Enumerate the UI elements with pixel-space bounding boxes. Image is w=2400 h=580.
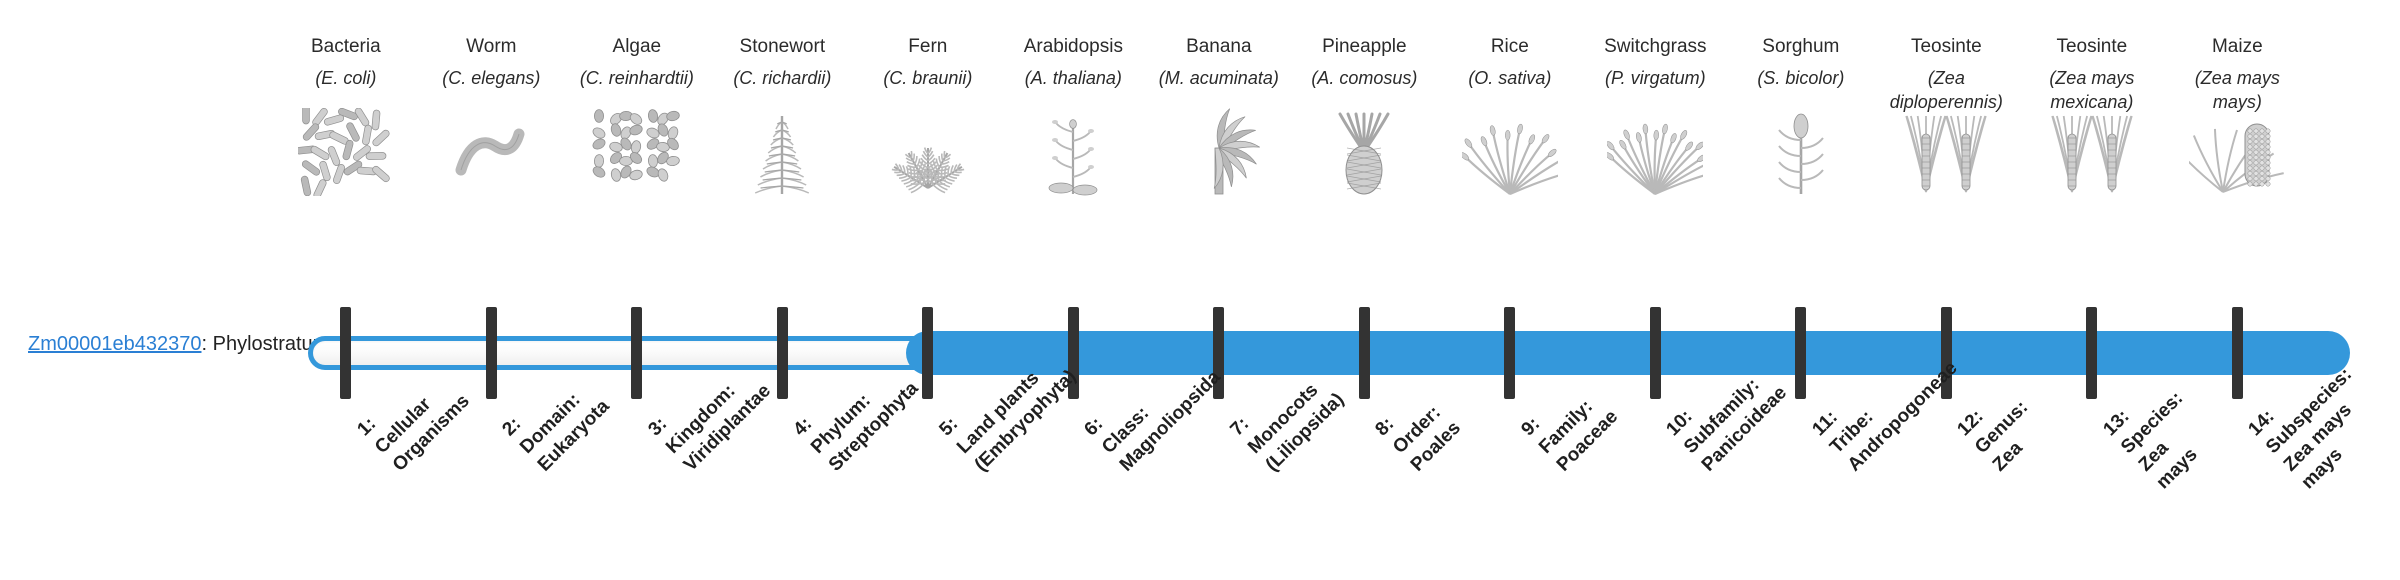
rank-label: 2:Domain:Eukaryota [497, 359, 615, 477]
species-scientific-name: (Zea mays mays) [2173, 66, 2301, 114]
rank-label: 13:Species:Zeamays [2098, 369, 2224, 495]
maize-icon [2189, 108, 2285, 196]
species-common-name: Arabidopsis [1009, 34, 1137, 60]
species-column: Arabidopsis(A. thaliana) [1009, 34, 1137, 114]
phylostratum-tick[interactable] [1650, 307, 1661, 399]
species-common-name: Stonewort [718, 34, 846, 60]
teosinte-diplo-icon [1898, 108, 1994, 196]
bacteria-icon [298, 108, 394, 196]
species-scientific-name: (M. acuminata) [1155, 66, 1283, 114]
species-column: Stonewort(C. richardii) [718, 34, 846, 114]
species-common-name: Teosinte [2028, 34, 2156, 60]
species-common-name: Sorghum [1737, 34, 1865, 60]
species-scientific-name: (P. virgatum) [1591, 66, 1719, 114]
arabidopsis-icon [1025, 108, 1121, 196]
rank-label: 1:CellularOrganisms [352, 354, 475, 477]
gene-id-link[interactable]: Zm00001eb432370 [28, 333, 201, 355]
species-column: Rice(O. sativa) [1446, 34, 1574, 114]
species-scientific-name: (S. bicolor) [1737, 66, 1865, 114]
phylostratum-tick[interactable] [2232, 307, 2243, 399]
pineapple-icon [1316, 108, 1412, 196]
switchgrass-icon [1607, 108, 1703, 196]
species-common-name: Algae [573, 34, 701, 60]
species-scientific-name: (Zea diploperennis) [1882, 66, 2010, 114]
sorghum-icon [1753, 108, 1849, 196]
species-column: Worm(C. elegans) [427, 34, 555, 114]
species-common-name: Switchgrass [1591, 34, 1719, 60]
species-scientific-name: (C. richardii) [718, 66, 846, 114]
species-common-name: Teosinte [1882, 34, 2010, 60]
species-column: Algae(C. reinhardtii) [573, 34, 701, 114]
species-common-name: Fern [864, 34, 992, 60]
species-scientific-name: (A. comosus) [1300, 66, 1428, 114]
phylostratum-diagram: Zm00001eb432370: Phylostratum 5 Bacteria… [0, 0, 2400, 580]
teosinte-mex-icon [2044, 108, 2140, 196]
phylostratum-tick[interactable] [922, 307, 933, 399]
species-column: Teosinte(Zea diploperennis) [1882, 34, 2010, 114]
species-common-name: Worm [427, 34, 555, 60]
species-column: Sorghum(S. bicolor) [1737, 34, 1865, 114]
species-common-name: Rice [1446, 34, 1574, 60]
stonewort-icon [734, 108, 830, 196]
phylostratum-tick[interactable] [340, 307, 351, 399]
rank-label: 8:Order:Poales [1370, 381, 1466, 477]
rank-label: 12:Genus:Zea [1952, 378, 2051, 477]
species-scientific-name: (C. elegans) [427, 66, 555, 114]
banana-icon [1171, 108, 1267, 196]
species-common-name: Bacteria [282, 34, 410, 60]
phylostratum-tick[interactable] [777, 307, 788, 399]
species-column: Pineapple(A. comosus) [1300, 34, 1428, 114]
species-scientific-name: (Zea mays mexicana) [2028, 66, 2156, 114]
species-common-name: Banana [1155, 34, 1283, 60]
phylostratum-tick[interactable] [1359, 307, 1370, 399]
gene-label-separator: : [201, 333, 212, 355]
rice-icon [1462, 108, 1558, 196]
species-column: Bacteria(E. coli) [282, 34, 410, 114]
species-column: Switchgrass(P. virgatum) [1591, 34, 1719, 114]
rank-label: 9:Family:Poaceae [1516, 369, 1624, 477]
species-scientific-name: (E. coli) [282, 66, 410, 114]
fern-icon [880, 108, 976, 196]
species-common-name: Pineapple [1300, 34, 1428, 60]
phylostratum-tick[interactable] [631, 307, 642, 399]
algae-icon [589, 108, 685, 196]
species-common-name: Maize [2173, 34, 2301, 60]
species-column: Teosinte(Zea mays mexicana) [2028, 34, 2156, 114]
species-scientific-name: (O. sativa) [1446, 66, 1574, 114]
phylostratum-tick[interactable] [486, 307, 497, 399]
species-column: Banana(M. acuminata) [1155, 34, 1283, 114]
worm-icon [443, 108, 539, 196]
phylostratum-tick[interactable] [1504, 307, 1515, 399]
phylostratum-tick[interactable] [1795, 307, 1806, 399]
species-column: Fern(C. braunii) [864, 34, 992, 114]
species-column: Maize(Zea mays mays) [2173, 34, 2301, 114]
phylostratum-fill [906, 331, 2350, 375]
phylostratum-tick[interactable] [2086, 307, 2097, 399]
species-scientific-name: (C. braunii) [864, 66, 992, 114]
species-scientific-name: (C. reinhardtii) [573, 66, 701, 114]
gene-phylostratum-label: Zm00001eb432370: Phylostratum 5 [28, 332, 292, 356]
species-scientific-name: (A. thaliana) [1009, 66, 1137, 114]
